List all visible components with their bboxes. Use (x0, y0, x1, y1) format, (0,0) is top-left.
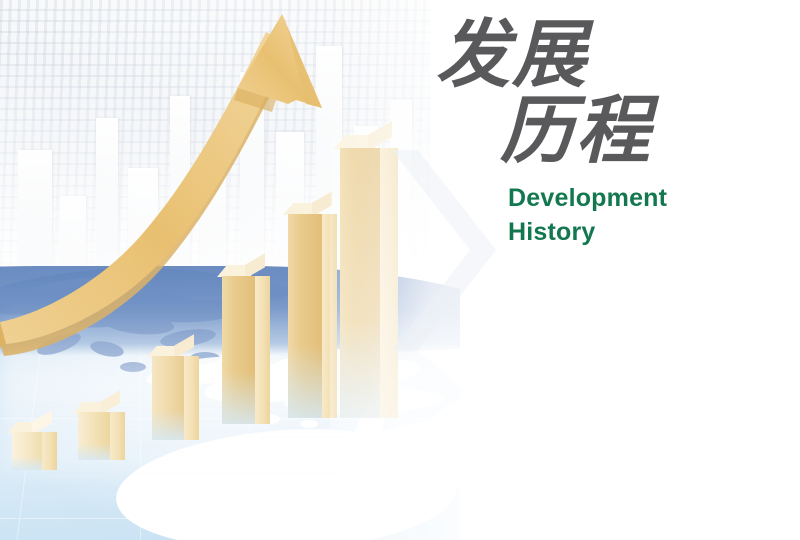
development-history-banner: 发展 历程 Development History (0, 0, 800, 540)
up-trend-arrow-icon (0, 0, 350, 380)
english-title-line-1: Development (508, 182, 760, 216)
calligraphy-line-2: 历程 (500, 94, 760, 168)
bar-1 (78, 412, 110, 460)
calligraphy-line-1: 发展 (436, 18, 760, 92)
bar-0 (12, 432, 42, 470)
english-title: Development History (508, 182, 760, 250)
english-title-line-2: History (508, 216, 760, 250)
title-block: 发展 历程 Development History (430, 18, 760, 250)
